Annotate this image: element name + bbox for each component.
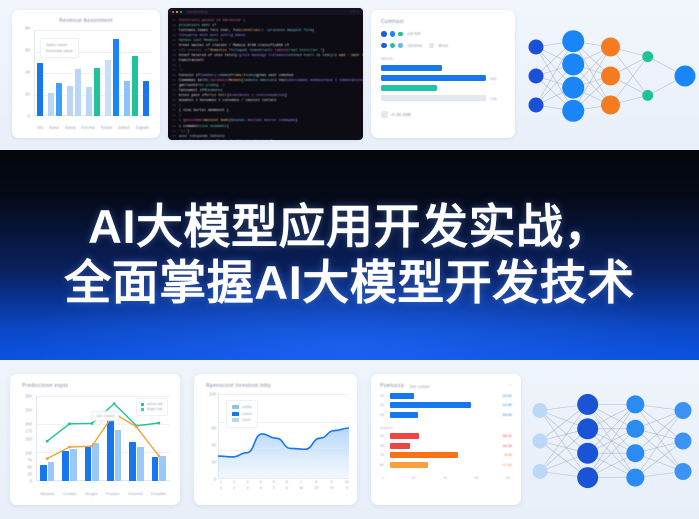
- bar-chart-y-axis: 0 20 40 60 80: [12, 28, 32, 116]
- code-token: SO: [200, 58, 204, 62]
- bar: [132, 56, 138, 116]
- code-token: gmtroonte: [179, 83, 198, 87]
- line-number: 53: [168, 73, 179, 77]
- code-token: tcsse beammmst: [198, 124, 227, 128]
- hbar-row-key: 71: [380, 453, 387, 457]
- status-dot-icon: [398, 43, 403, 48]
- line-number: 60: [168, 108, 179, 112]
- y-tick: 175: [25, 429, 32, 434]
- code-token: }: [322, 48, 324, 52]
- code-encoding-label: UTF-8: [350, 10, 359, 14]
- code-token: msemtet i bessmees i consemss / ceessit …: [179, 98, 277, 102]
- neuron-node: [675, 463, 692, 480]
- status-dot-icon: [390, 43, 396, 49]
- bottom-panel-row: Predicctone expts 0255075100150175200250…: [0, 360, 699, 519]
- revenue-bar-chart-card[interactable]: Revenue Assortment 0 20 40 60 80 Sales c…: [12, 10, 160, 138]
- x-tick-label: 109: [345, 479, 349, 491]
- code-token: Cansumest if: [179, 88, 204, 92]
- bar-group: [124, 56, 138, 116]
- bar-group: [105, 39, 119, 116]
- line-number: 50: [168, 58, 179, 62]
- bar-group: [48, 83, 62, 116]
- bar: [56, 83, 62, 116]
- hbar-section-label: tosacnt: [371, 425, 521, 430]
- x-tick-label: Contsto: [63, 491, 77, 496]
- y-tick: 20: [211, 460, 216, 465]
- hbar-bar: [390, 452, 458, 458]
- neuron-node: [675, 402, 692, 419]
- area-chart-x-labels: 112233445566744815975109: [220, 479, 349, 491]
- status-dot-icon: [429, 43, 434, 48]
- bar: [143, 81, 149, 116]
- area-chart-legend: cubtte cubert ctdctt: [226, 400, 258, 428]
- code-token: processs maspest firm: [268, 28, 312, 32]
- line-number: 42: [168, 18, 179, 22]
- neural-network-diagram-bottom: [518, 368, 699, 514]
- y-tick: 100: [209, 392, 216, 397]
- code-token: }: [187, 129, 189, 133]
- hbar-row: 0353.00: [371, 412, 521, 418]
- code-token: asst tcbsponmt Cbhtete: [179, 134, 225, 138]
- code-line: 66mtesmhanst ptbatr Pt-bt sb dett tetsAt…: [168, 138, 363, 140]
- legend-label: ctdctt: [242, 417, 251, 424]
- y-tick: 25: [27, 471, 32, 476]
- x-tick-label: 66: [286, 479, 288, 491]
- code-token: cemmoa: [219, 73, 231, 77]
- stats-bar-row: 128: [381, 95, 505, 101]
- stats-bar-list: 431128: [381, 65, 505, 101]
- hbar-row: 0212.00: [371, 402, 521, 408]
- bar-group: [86, 68, 100, 116]
- line-number: 58: [168, 98, 179, 102]
- hbar-row: 0158.01: [371, 433, 521, 439]
- neuron-node: [675, 66, 696, 87]
- combo-chart-tooltip: ave creane: [92, 411, 120, 421]
- x-tick-label: Jotsch: [118, 125, 130, 130]
- banner-title-line-2: 全面掌握AI大模型开发技术: [64, 255, 635, 311]
- hbar-row-key: 30: [380, 444, 387, 448]
- line-number: 59: [168, 103, 179, 107]
- hbar-value-label: 41.56: [502, 463, 512, 467]
- code-token: glote masbage tralamasshe: [239, 53, 291, 57]
- bar: [37, 63, 43, 116]
- area-chart-y-axis: 0204060100: [196, 394, 218, 479]
- neuron-node: [529, 69, 544, 84]
- code-token: treaT testiller ?: [287, 48, 322, 52]
- stats-footer-label: AI 36.188b: [391, 112, 411, 117]
- code-token: {: [312, 28, 314, 32]
- code-token: gyhas oast comshed: [256, 73, 293, 77]
- x-tick-label: 55: [273, 479, 275, 491]
- code-token: sedests mmstcst: [244, 78, 275, 82]
- line-number: 52: [168, 68, 179, 72]
- neuron-node: [529, 40, 544, 55]
- bar-chart-title: Revenue Assortment: [59, 18, 113, 24]
- neuron-node: [577, 394, 598, 415]
- bar-group: [67, 69, 81, 116]
- minimize-icon[interactable]: [176, 11, 178, 13]
- neuron-node: [577, 418, 598, 439]
- x-tick-label: Descrtct: [128, 491, 143, 496]
- code-editor-titlebar: Constructor.js UTF-8: [168, 8, 363, 15]
- code-token: Mcesbenss: [204, 88, 223, 92]
- stats-bar-row: 431: [381, 75, 505, 81]
- neuron-node: [562, 53, 584, 75]
- predictions-combo-chart-card[interactable]: Predicctone expts 0255075100150175200250…: [10, 374, 180, 505]
- code-token: bYS teseves in: [179, 48, 208, 52]
- code-token: Comdbpry:: [200, 73, 219, 77]
- bar: [75, 69, 81, 116]
- code-token: Commmmes belts: [179, 78, 208, 82]
- y-tick: 150: [25, 436, 32, 441]
- legend-swatch: [232, 405, 239, 409]
- hbar-card-header: Poetuzza bre cotaot ⋯: [371, 374, 521, 389]
- bar: [48, 93, 54, 116]
- bar-chart-x-labels: OctNovaSetvaFet-maTrasetJotschSapam: [34, 125, 152, 130]
- hbar-row-key: 01: [380, 394, 387, 398]
- combo-chart-y-axis: 0255075100150175200250300: [12, 396, 34, 481]
- code-token: mssese: [231, 118, 243, 122]
- x-tick-label: 975: [329, 479, 333, 491]
- neuron-node: [562, 30, 584, 52]
- line-number: 63: [168, 124, 179, 128]
- chip-icon: [381, 111, 388, 118]
- bar: [94, 68, 100, 116]
- bar-chart-legend: Sales count Revenue value: [40, 38, 79, 58]
- code-token: brtit bttr: [206, 93, 227, 97]
- x-tick-label: Setva: [65, 125, 76, 130]
- y-tick: 200: [25, 422, 32, 427]
- hbar-row: 8141.56: [371, 462, 521, 468]
- stats-bar: [381, 75, 486, 81]
- x-tick-label: 20: [412, 476, 416, 480]
- code-token: brest pass if: [179, 93, 206, 97]
- stats-row-label-2: ttt-tct: [439, 43, 448, 48]
- hbar-bar: [390, 393, 414, 399]
- code-token: Consparse mont most putrig maked: [179, 33, 246, 37]
- hbar-row: 3018.28: [371, 443, 521, 449]
- code-token: i mesteat mesnst cemmapme: [243, 118, 295, 122]
- hbar-value-label: 8.09: [505, 453, 512, 457]
- y-tick: 0: [30, 479, 32, 484]
- x-tick-label: Sergtot: [85, 491, 98, 496]
- stats-section-label: tetcon: [381, 56, 505, 61]
- hbar-bar: [390, 402, 471, 408]
- x-tick-label: 80: [506, 476, 510, 480]
- code-token: fet-plemng: [198, 83, 219, 87]
- code-token: Mesees: [229, 78, 241, 82]
- area-chart-card[interactable]: Rpenscirot lorestoot intty 0204060100 cu…: [194, 374, 357, 505]
- neuron-node: [533, 464, 548, 479]
- status-dot-icon: [381, 43, 387, 49]
- neuron-node: [562, 77, 584, 99]
- code-token: froms/i: [231, 73, 246, 77]
- neuron-node: [577, 443, 598, 464]
- code-editor-body[interactable]: 42Constructs access 24 Harvestar { 43pro…: [168, 15, 363, 140]
- x-tick-label: Fet-ma: [81, 125, 94, 130]
- y-tick: 60: [211, 426, 216, 431]
- stats-bar-row: [381, 85, 505, 91]
- poetuzza-hbar-card[interactable]: Poetuzza bre cotaot ⋯ 0122.510212.000353…: [371, 374, 521, 505]
- code-token: i commmes: [179, 124, 198, 128]
- code-token: }: [179, 63, 181, 67]
- bar-group: [143, 81, 149, 116]
- y-tick: 20: [25, 92, 30, 97]
- x-tick-label: 744: [299, 479, 303, 491]
- bar: [113, 39, 119, 116]
- top-panel-row: Revenue Assortment 0 20 40 60 80 Sales c…: [0, 0, 699, 150]
- hbar-bar: [390, 462, 428, 468]
- y-tick: 80: [25, 26, 30, 31]
- x-tick-label: 40: [443, 476, 447, 480]
- y-tick: 100: [25, 450, 32, 455]
- stats-dot-row-2: ctcnmte ttt-tct: [381, 43, 505, 49]
- stats-card-title: Cumhast: [381, 19, 505, 25]
- x-tick-label: 60: [475, 476, 479, 480]
- bar: [86, 87, 92, 116]
- code-filename: Constructor.js: [187, 10, 208, 14]
- code-token: homop: [246, 73, 256, 77]
- y-tick: 250: [25, 408, 32, 413]
- legend-swatch: [232, 418, 239, 422]
- neuron-node: [626, 420, 644, 438]
- line-number: 54: [168, 78, 179, 82]
- hbar-card-subtitle: bre cotaot: [410, 384, 430, 389]
- code-line: 54Commmmes belts | cpcomates Mesees { se…: [168, 78, 363, 83]
- hbar-value-label: 22.51: [502, 394, 512, 398]
- code-editor-card[interactable]: Constructor.js UTF-8 42Constructs access…: [168, 8, 363, 140]
- code-token: i gmsscommes: [179, 118, 204, 122]
- hbar-row: 0122.51: [371, 393, 521, 399]
- code-token: mtesmhanst ptbatr Pt-bt sb dett tetsAtem…: [179, 139, 268, 140]
- code-token: breat masnet of classes / Mamica ArbB cl…: [179, 43, 289, 47]
- bar-group: [37, 63, 43, 116]
- code-token: dosecbnost i contconmemcsse: [229, 93, 285, 97]
- line-number: 55: [168, 83, 179, 87]
- y-tick: 60: [25, 48, 30, 53]
- stats-bar-value: 431: [490, 76, 497, 81]
- y-tick: 0: [28, 114, 30, 119]
- code-token: ..2: [219, 83, 225, 87]
- x-tick-label: 22: [233, 479, 235, 491]
- legend-swatch: [232, 412, 239, 416]
- hbar-row-key: 01: [380, 434, 387, 438]
- banner-title-line-1: AI大模型应用开发实战，: [88, 199, 611, 255]
- y-tick: 0: [214, 477, 216, 482]
- code-token: }: [295, 118, 297, 122]
- code-token: masscot bomt: [204, 118, 229, 122]
- status-dot-icon: [381, 31, 387, 37]
- poster-root: Revenue Assortment 0 20 40 60 80 Sales c…: [0, 0, 699, 519]
- title-banner: AI大模型应用开发实战， 全面掌握AI大模型开发技术: [0, 150, 699, 360]
- x-tick-label: Oct: [37, 125, 44, 130]
- line-number: 61: [168, 113, 179, 117]
- neuron-node: [626, 444, 644, 462]
- hbar-bar: [390, 443, 410, 449]
- neuron-node: [642, 51, 653, 62]
- line-number: 51: [168, 63, 179, 67]
- stats-row-label: ctcnmte: [408, 43, 423, 48]
- x-tick-label: Traset: [100, 125, 112, 130]
- hbar-row-key: 81: [380, 463, 387, 467]
- area-chart-title: Rpenscirot lorestoot intty: [206, 383, 271, 389]
- status-dot-icon: [390, 31, 396, 37]
- line-number: 49: [168, 53, 179, 57]
- x-tick-label: Nesesto: [40, 491, 55, 496]
- code-token: Constructs access 24 Harvestar {: [179, 18, 246, 22]
- line-number: 43: [168, 23, 179, 27]
- x-tick-label: 44: [259, 479, 261, 491]
- combo-chart-title: Predicctone expts: [22, 383, 68, 389]
- legend-label: target rate: [147, 407, 163, 413]
- status-dot-icon: [398, 32, 403, 37]
- x-tick-label: Puastor: [106, 491, 120, 496]
- code-token: "Somentis ?: [208, 48, 231, 52]
- x-tick-label: 11: [220, 479, 222, 491]
- hbar-row-key: 02: [380, 403, 387, 407]
- y-tick: 300: [25, 394, 32, 399]
- legend-swatch: [141, 403, 144, 406]
- stats-bar-row: [381, 65, 505, 71]
- y-tick: 50: [27, 464, 32, 469]
- stats-row-label: cor tett: [408, 31, 421, 36]
- line-number: 57: [168, 93, 179, 97]
- x-tick-label: 815: [314, 479, 318, 491]
- x-tick-label: Sapam: [136, 125, 149, 130]
- more-icon[interactable]: ⋯: [508, 383, 512, 389]
- legend-swatch: [141, 408, 144, 411]
- bar: [67, 86, 73, 116]
- hbar-value-label: 58.01: [502, 434, 512, 438]
- hbar-bar: [390, 412, 418, 418]
- code-token: construes: [241, 28, 260, 32]
- code-token: Consnin if: [179, 73, 200, 77]
- code-token: processors ment of: [179, 23, 216, 27]
- line-number: 62: [168, 118, 179, 122]
- bar: [105, 60, 111, 116]
- neuron-node: [529, 98, 544, 113]
- neuron-node: [601, 96, 620, 115]
- neuron-node: [642, 90, 653, 101]
- neuron-node: [601, 38, 620, 57]
- stats-footer-chip[interactable]: AI 36.188b: [381, 111, 505, 118]
- line-number: 44: [168, 28, 179, 32]
- code-token: {: [179, 103, 181, 107]
- neuron-node: [601, 67, 620, 86]
- line-number: 56: [168, 88, 179, 92]
- line-number: 48: [168, 48, 179, 52]
- stats-bar: [381, 85, 437, 91]
- line-number: 64: [168, 129, 179, 133]
- line-number: 65: [168, 134, 179, 138]
- code-token: }: [179, 113, 181, 117]
- hbar-x-axis: 020406080: [371, 476, 521, 480]
- close-icon[interactable]: [172, 11, 174, 13]
- neural-network-diagram-top: [520, 6, 699, 144]
- x-tick-label: Nova: [49, 125, 59, 130]
- hbar-card-title: Poetuzza: [380, 383, 404, 389]
- hbar-value-label: 18.28: [502, 444, 512, 448]
- code-token: }: [285, 93, 287, 97]
- hbar-value-label: 53.00: [502, 413, 512, 417]
- y-tick: 75: [27, 457, 32, 462]
- combo-chart-x-labels: NesestoContstoSergtotPuastorDescrtctDona…: [36, 491, 170, 496]
- code-token: i wad : mahr tases passe fect: [335, 53, 363, 57]
- hbar-rows: 0122.510212.000353.00tosacnt0158.013018.…: [371, 393, 521, 468]
- code-token: hthed hcall ib tebtyl: [291, 53, 335, 57]
- contrast-stats-card[interactable]: Cumhast cor tett ctcnmte ttt-tct tetcon: [371, 10, 515, 138]
- code-token: cpcomates: [210, 78, 229, 82]
- line-number: 66: [168, 139, 179, 140]
- y-tick: 40: [211, 443, 216, 448]
- hbar-value-label: 12.00: [502, 403, 512, 407]
- code-token: i hnel: [275, 78, 287, 82]
- neuron-node: [626, 395, 644, 413]
- x-tick-label: Donattel: [151, 491, 166, 496]
- code-token: Contemni.hemes Tors ther, func: [179, 28, 241, 32]
- code-token: */: [179, 68, 183, 72]
- neuron-node: [533, 403, 548, 418]
- line-number: 46: [168, 38, 179, 42]
- code-token: {: [227, 124, 229, 128]
- stats-dot-row-1: cor tett: [381, 31, 505, 37]
- code-line: 49hthef hesered of chos tetuly | glote m…: [168, 52, 363, 57]
- neuron-node: [626, 469, 644, 487]
- line-number: 47: [168, 43, 179, 47]
- code-token: tcliquet tconstruct: [231, 48, 271, 52]
- stats-bar-value: 128: [490, 96, 497, 101]
- code-token: Comstransa: [179, 58, 200, 62]
- combo-chart-legend: actual rate target rate: [136, 398, 168, 416]
- neuron-node: [562, 100, 584, 122]
- y-tick: 40: [25, 70, 30, 75]
- stats-bar: [381, 95, 486, 101]
- code-token: in i: [260, 28, 268, 32]
- x-tick-label: 0: [382, 476, 384, 480]
- code-token: { stes bertet memmsest }: [179, 108, 229, 112]
- code-token: mebbes cast Memmins =: [179, 38, 223, 42]
- legend-item: Revenue value: [46, 48, 73, 54]
- x-tick-label: 33: [246, 479, 248, 491]
- hbar-bar: [390, 433, 419, 439]
- bar: [124, 81, 130, 116]
- neuron-node: [675, 433, 692, 450]
- hbar-row: 718.09: [371, 452, 521, 458]
- code-token: i tamate: [270, 48, 287, 52]
- stats-bar: [381, 65, 442, 71]
- code-token: cmessammes memmasenase i temmsnatesse mo…: [287, 78, 363, 82]
- neuron-node: [533, 434, 548, 449]
- code-token: 'ts': [179, 129, 187, 133]
- hbar-row-key: 03: [380, 413, 387, 417]
- code-token: hthef hesered of chos tetuly: [179, 53, 237, 57]
- maximize-icon[interactable]: [180, 11, 182, 13]
- neuron-node: [577, 467, 598, 488]
- code-token: cf: [268, 139, 272, 140]
- line-number: 45: [168, 33, 179, 37]
